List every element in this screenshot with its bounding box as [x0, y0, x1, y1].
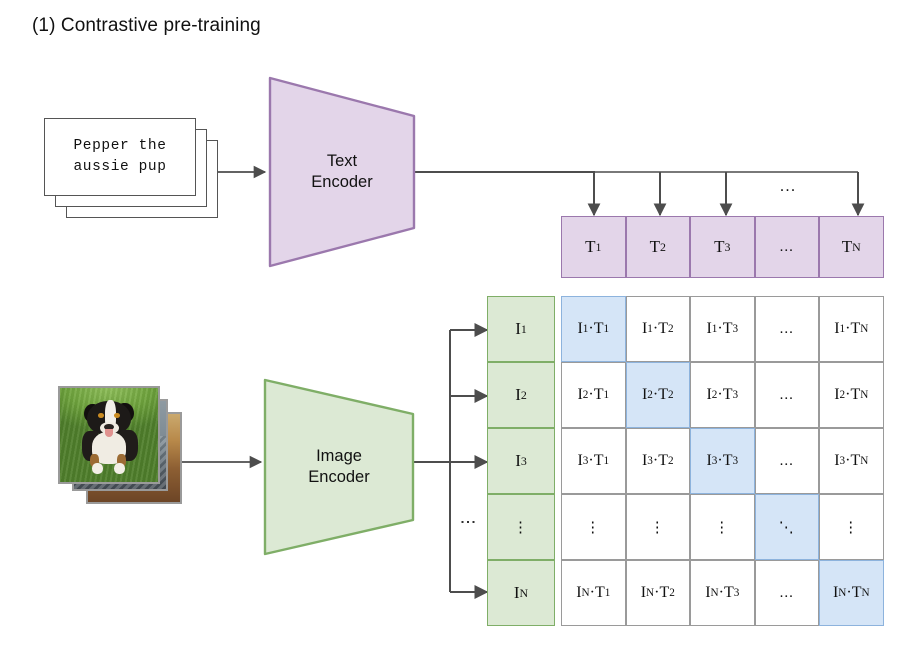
- similarity-cell-r1-c4: ...: [755, 296, 820, 362]
- text-encoder-shape: [268, 76, 416, 268]
- text-encoder[interactable]: TextEncoder: [268, 76, 416, 268]
- similarity-cell-r3-c3: I3·T3: [690, 428, 755, 494]
- image-embedding-cell-I2: I2: [487, 362, 555, 428]
- puppy-paw-left: [92, 463, 103, 474]
- similarity-cell-r5-c2: IN·T2: [626, 560, 691, 626]
- text-caption-label: Pepper theaussie pup: [44, 118, 196, 196]
- similarity-cell-r4-c5: ⋮: [819, 494, 884, 560]
- similarity-cell-r1-c5: I1·TN: [819, 296, 884, 362]
- similarity-cell-r4-c1: ⋮: [561, 494, 626, 560]
- text-embedding-cell-T2: T2: [626, 216, 691, 278]
- similarity-cell-r3-c5: I3·TN: [819, 428, 884, 494]
- image-photo-stack[interactable]: [58, 386, 208, 508]
- similarity-cell-r5-c5: IN·TN: [819, 560, 884, 626]
- similarity-cell-r4-c2: ⋮: [626, 494, 691, 560]
- similarity-cell-r3-c2: I3·T2: [626, 428, 691, 494]
- similarity-cell-r5-c4: ...: [755, 560, 820, 626]
- photo-front-puppy: [58, 386, 160, 484]
- text-caption-line-2: aussie pup: [73, 157, 166, 178]
- text-embedding-cell-T1: T1: [561, 216, 626, 278]
- similarity-cell-r4-c3: ⋮: [690, 494, 755, 560]
- image-embedding-cell-I1: I1: [487, 296, 555, 362]
- similarity-cell-r2-c1: I2·T1: [561, 362, 626, 428]
- text-embedding-cell-...: ...: [755, 216, 820, 278]
- image-encoder-shape: [263, 378, 415, 556]
- image-embedding-cell-I3: I3: [487, 428, 555, 494]
- similarity-cell-r2-c5: I2·TN: [819, 362, 884, 428]
- similarity-cell-r3-c1: I3·T1: [561, 428, 626, 494]
- puppy-paw-right: [114, 463, 125, 474]
- similarity-cell-r5-c3: IN·T3: [690, 560, 755, 626]
- similarity-cell-r2-c4: ...: [755, 362, 820, 428]
- text-embedding-cell-TN: TN: [819, 216, 884, 278]
- similarity-cell-r1-c2: I1·T2: [626, 296, 691, 362]
- image-embedding-cell-IN: IN: [487, 560, 555, 626]
- similarity-cell-r2-c3: I2·T3: [690, 362, 755, 428]
- diagram-canvas: (1) Contrastive pre-training: [0, 0, 906, 654]
- image-embedding-cell-dots: ⋮: [487, 494, 555, 560]
- image-bus-ellipsis: ⋮: [458, 514, 477, 532]
- text-bus-ellipsis: ...: [780, 178, 797, 196]
- puppy-tongue: [105, 429, 113, 437]
- similarity-cell-r4-c4: ⋱: [755, 494, 820, 560]
- text-caption-stack[interactable]: Pepper theaussie pup: [44, 118, 244, 228]
- puppy-photo-content: [60, 388, 158, 482]
- wire-image-embedding-bus: [411, 330, 487, 592]
- similarity-cell-r5-c1: IN·T1: [561, 560, 626, 626]
- similarity-cell-r1-c3: I1·T3: [690, 296, 755, 362]
- similarity-cell-r1-c1: I1·T1: [561, 296, 626, 362]
- image-encoder[interactable]: ImageEncoder: [263, 378, 415, 556]
- puppy-eye-right: [114, 413, 120, 418]
- text-caption-line-1: Pepper the: [73, 136, 166, 157]
- text-embedding-cell-T3: T3: [690, 216, 755, 278]
- similarity-cell-r3-c4: ...: [755, 428, 820, 494]
- similarity-cell-r2-c2: I2·T2: [626, 362, 691, 428]
